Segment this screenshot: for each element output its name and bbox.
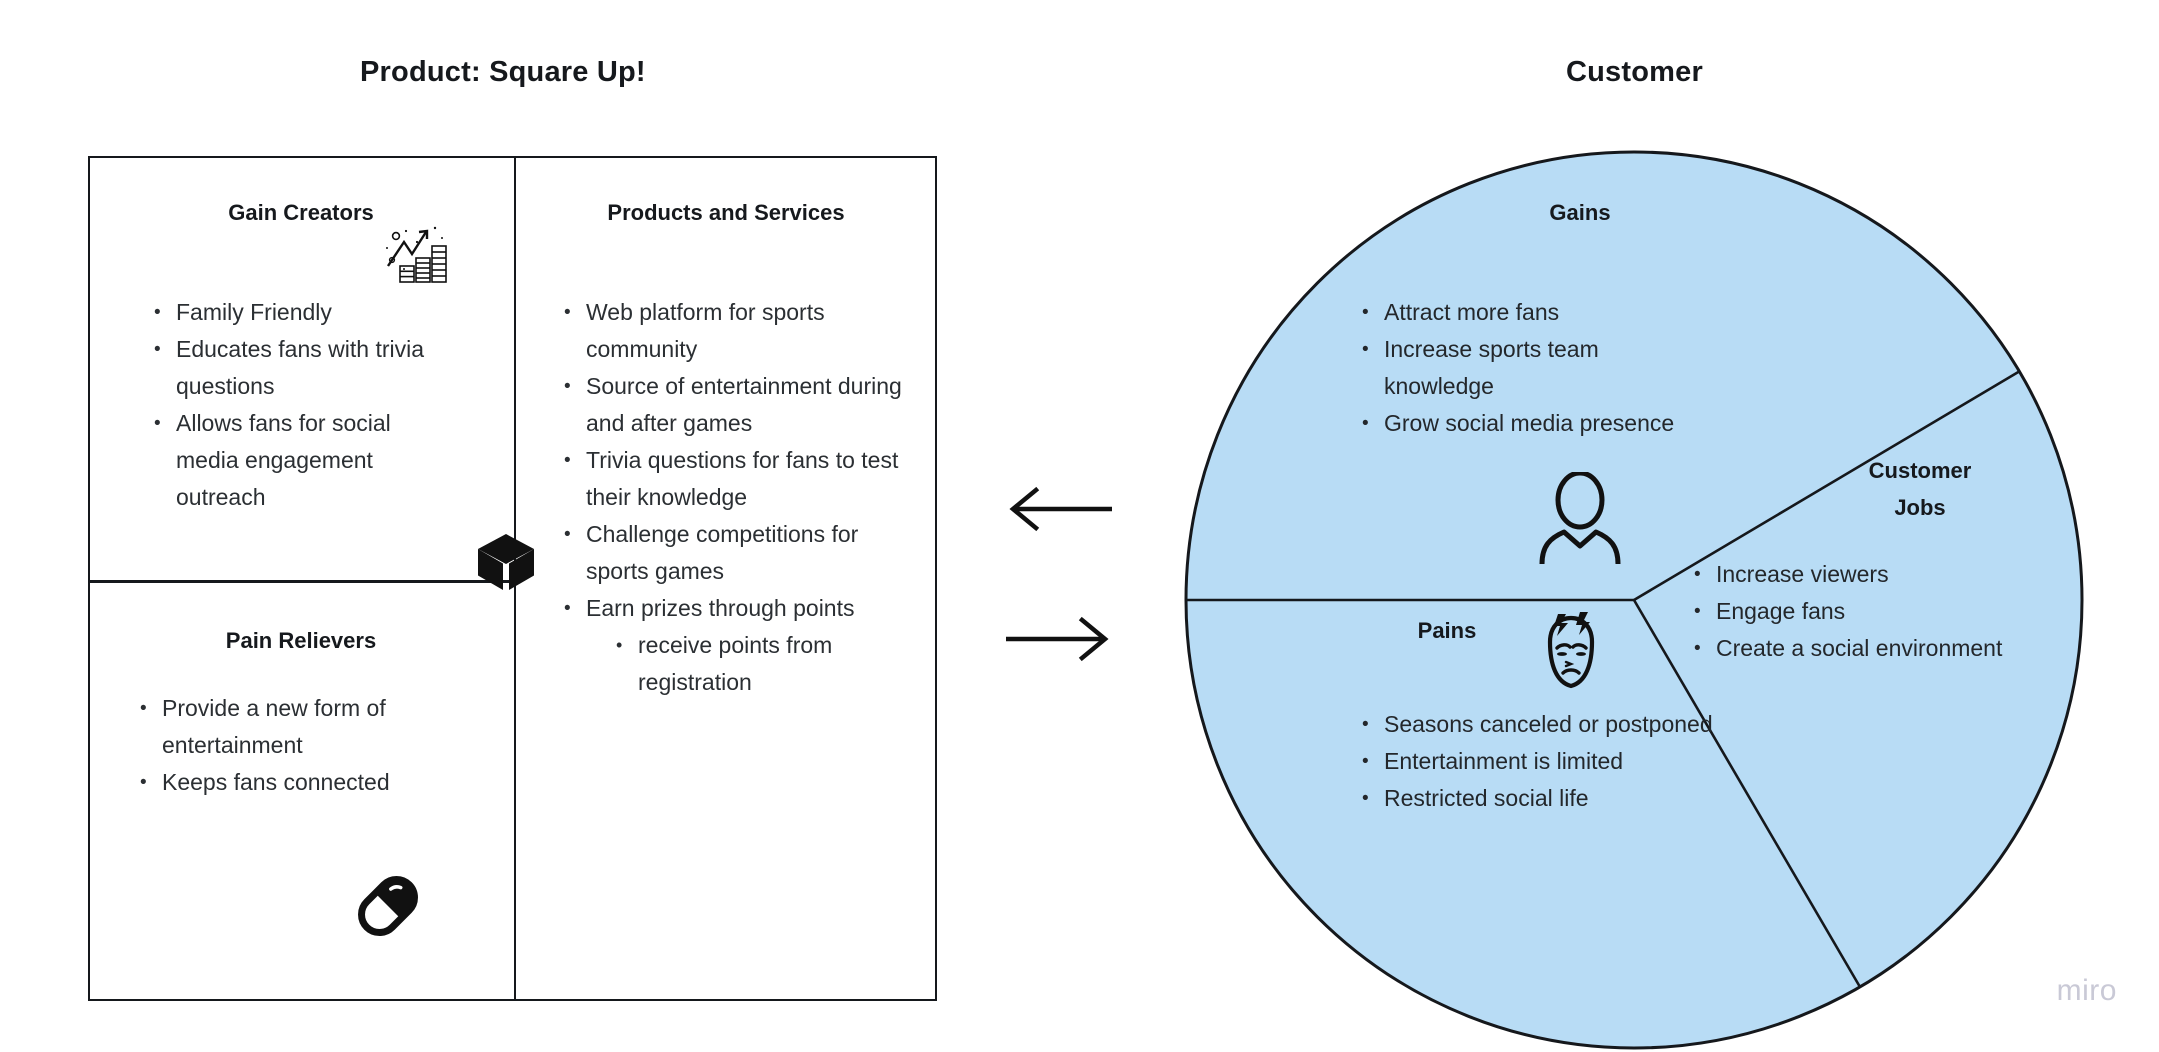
gains-title: Gains [1480,200,1680,226]
customer-jobs-list: Increase viewers Engage fans Create a so… [1690,556,2130,667]
customer-jobs-title-line1: Customer [1830,452,2010,489]
customer-side-title: Customer [1566,56,1703,89]
list-item: Keeps fans connected [136,764,496,801]
list-item: Web platform for sports community [560,294,910,368]
pill-icon [340,858,436,954]
list-item: Allows fans for social media engagement … [150,405,450,516]
arrow-right-icon [1004,608,1114,670]
products-and-services-list: Web platform for sports community Source… [560,294,910,701]
list-item: Create a social environment [1690,630,2130,667]
product-side-title: Product: Square Up! [360,56,646,89]
customer-jobs-title-line2: Jobs [1830,489,2010,526]
list-item: Increase viewers [1690,556,2130,593]
list-item: Challenge competitions for sports games [560,516,910,590]
list-item: receive points from registration [612,627,910,701]
gain-creators-list: Family Friendly Educates fans with trivi… [150,294,450,516]
arrow-left-icon [1004,478,1114,540]
pain-relievers-title: Pain Relievers [88,628,514,654]
miro-watermark: miro [2057,974,2117,1008]
growth-chart-icon [382,222,462,286]
list-item: Earn prizes through points [560,590,910,627]
value-proposition-canvas: Product: Square Up! Customer Gain Creato… [0,0,2159,1042]
list-item: Provide a new form of entertainment [136,690,496,764]
products-and-services-sublist: receive points from registration [560,627,910,701]
list-item: Source of entertainment during and after… [560,368,910,442]
list-item: Trivia questions for fans to test their … [560,442,910,516]
pain-relievers-list: Provide a new form of entertainment Keep… [136,690,496,801]
customer-jobs-title: Customer Jobs [1830,452,2010,526]
list-item: Seasons canceled or postponed [1358,706,1718,743]
pains-title: Pains [1382,618,1512,644]
headache-face-icon [1530,612,1612,700]
list-item: Family Friendly [150,294,450,331]
gains-list: Attract more fans Increase sports team k… [1358,294,1698,442]
list-item: Educates fans with trivia questions [150,331,450,405]
list-item: Entertainment is limited [1358,743,1718,780]
cube-icon [470,526,542,598]
list-item: Grow social media presence [1358,405,1698,442]
list-item: Increase sports team knowledge [1358,331,1698,405]
person-icon [1536,472,1624,564]
list-item: Restricted social life [1358,780,1718,817]
list-item: Attract more fans [1358,294,1698,331]
pains-list: Seasons canceled or postponed Entertainm… [1358,706,1718,817]
list-item: Engage fans [1690,593,2130,630]
product-horizontal-divider [89,580,515,583]
products-and-services-title: Products and Services [516,200,936,226]
